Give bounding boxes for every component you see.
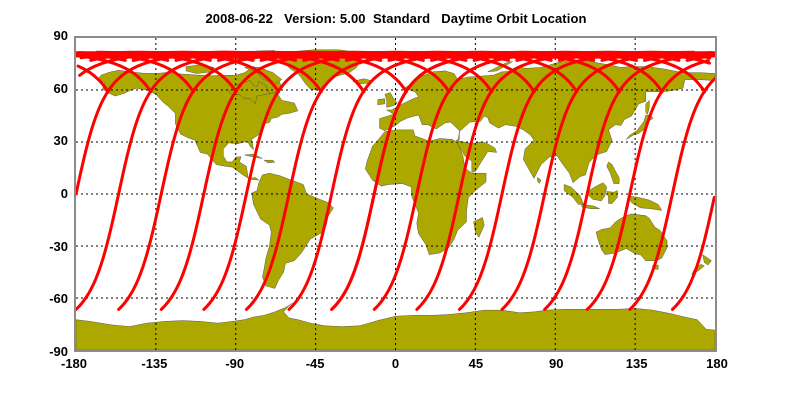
x-tick-label--135: -135 [124,356,184,371]
y-tick-label-90: 90 [24,28,68,43]
x-tick-label--45: -45 [285,356,345,371]
x-tick-label-180: 180 [687,356,747,371]
x-tick-label-0: 0 [366,356,426,371]
land-ireland [378,99,385,105]
y-tick-label--30: -30 [24,239,68,254]
orbit-location-figure: 2008-06-22 Version: 5.00 Standard Daytim… [0,0,800,400]
x-tick-label-45: 45 [446,356,506,371]
x-tick-label--90: -90 [205,356,265,371]
y-tick-label-0: 0 [24,186,68,201]
page-title: 2008-06-22 Version: 5.00 Standard Daytim… [74,11,718,26]
x-tick-label-90: 90 [526,356,586,371]
y-tick-label--60: -60 [24,291,68,306]
y-tick-label-30: 30 [24,133,68,148]
x-tick-label--180: -180 [44,356,104,371]
map-plot-area [74,36,717,352]
x-tick-label-135: 135 [607,356,667,371]
world-map-canvas [76,38,715,350]
y-tick-label-60: 60 [24,81,68,96]
